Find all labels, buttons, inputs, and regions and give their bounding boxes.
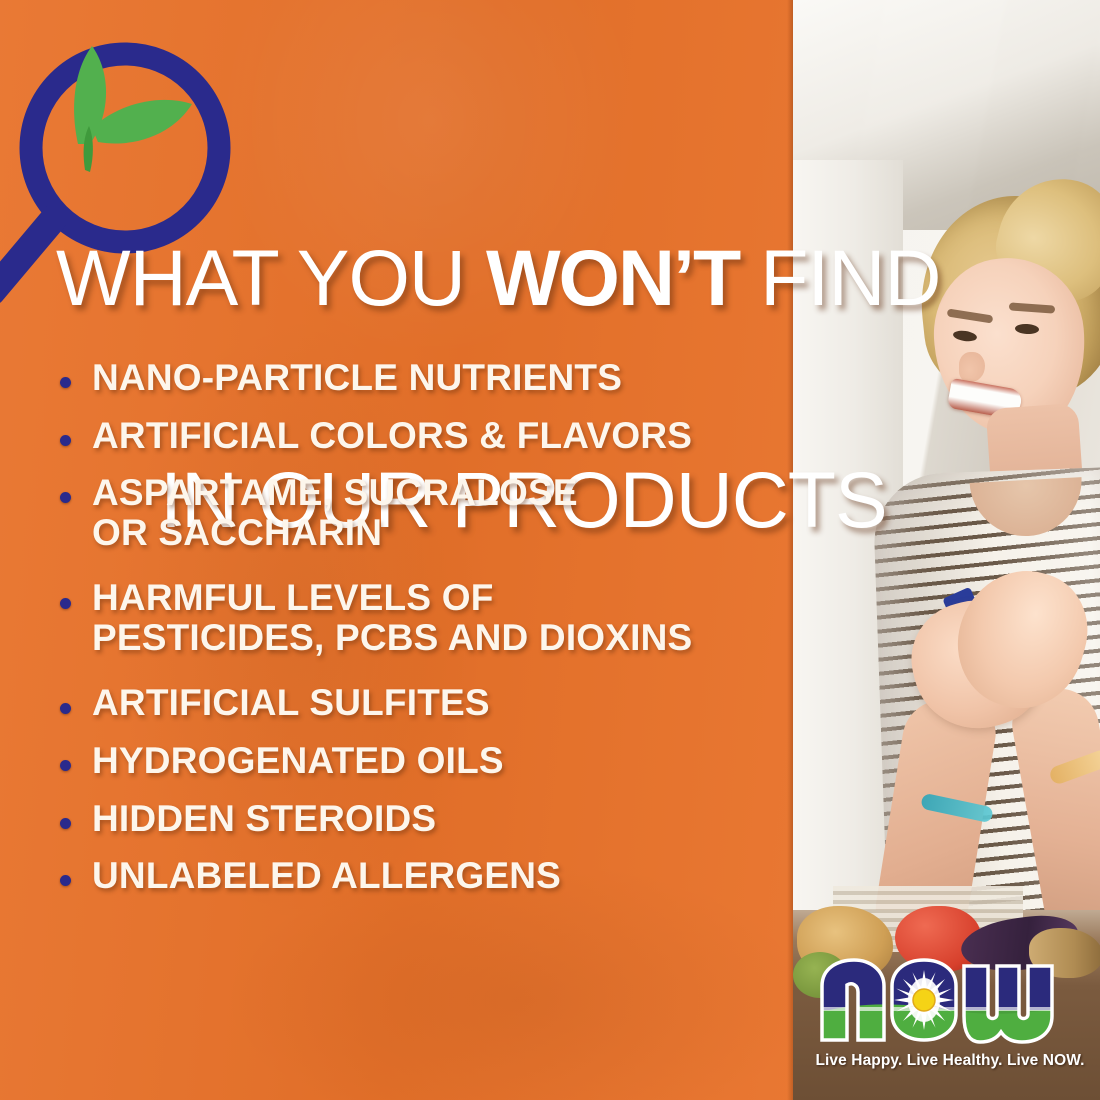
headline-line-1: WHAT YOU WON’T FIND <box>0 241 1060 315</box>
headline-part-post: FIND <box>739 233 940 322</box>
now-wordmark <box>814 952 1086 1048</box>
now-foods-logo: Live Happy. Live Healthy. Live NOW. <box>814 952 1086 1070</box>
list-item-label: NANO-PARTICLE NUTRIENTS <box>92 357 622 398</box>
list-item-label: ARTIFICIAL COLORS & FLAVORS <box>92 415 692 456</box>
sunburst-icon <box>894 970 954 1030</box>
list-item: ARTIFICIAL COLORS & FLAVORS <box>54 416 794 456</box>
bullet-dot-icon <box>60 492 71 503</box>
bullet-dot-icon <box>60 598 71 609</box>
list-item-label: ARTIFICIAL SULFITES <box>92 682 490 723</box>
promo-poster: WHAT YOU WON’T FIND IN OUR PRODUCTS NANO… <box>0 0 1100 1100</box>
list-item: UNLABELED ALLERGENS <box>54 856 794 896</box>
bullet-dot-icon <box>60 818 71 829</box>
bullet-dot-icon <box>60 703 71 714</box>
list-item-label: HYDROGENATED OILS <box>92 740 504 781</box>
list-item: ARTIFICIAL SULFITES <box>54 683 794 723</box>
list-item-label: HARMFUL LEVELS OF PESTICIDES, PCBS AND D… <box>92 577 692 658</box>
headline-emphasis-wont: WON’T <box>486 233 739 322</box>
list-item: HIDDEN STEROIDS <box>54 799 794 839</box>
list-item: HARMFUL LEVELS OF PESTICIDES, PCBS AND D… <box>54 578 794 657</box>
headline-part-pre: WHAT YOU <box>56 233 486 322</box>
bullet-dot-icon <box>60 875 71 886</box>
logo-tagline: Live Happy. Live Healthy. Live NOW. <box>814 1052 1086 1070</box>
list-item-label: HIDDEN STEROIDS <box>92 798 436 839</box>
list-item-label: UNLABELED ALLERGENS <box>92 855 561 896</box>
list-item: HYDROGENATED OILS <box>54 741 794 781</box>
list-item: NANO-PARTICLE NUTRIENTS <box>54 358 794 398</box>
list-item-label: ASPARTAME, SUCRALOSE OR SACCHARIN <box>92 472 578 553</box>
excluded-ingredients-list: NANO-PARTICLE NUTRIENTS ARTIFICIAL COLOR… <box>54 358 794 914</box>
list-item: ASPARTAME, SUCRALOSE OR SACCHARIN <box>54 473 794 552</box>
bullet-dot-icon <box>60 435 71 446</box>
bullet-dot-icon <box>60 760 71 771</box>
bullet-dot-icon <box>60 377 71 388</box>
